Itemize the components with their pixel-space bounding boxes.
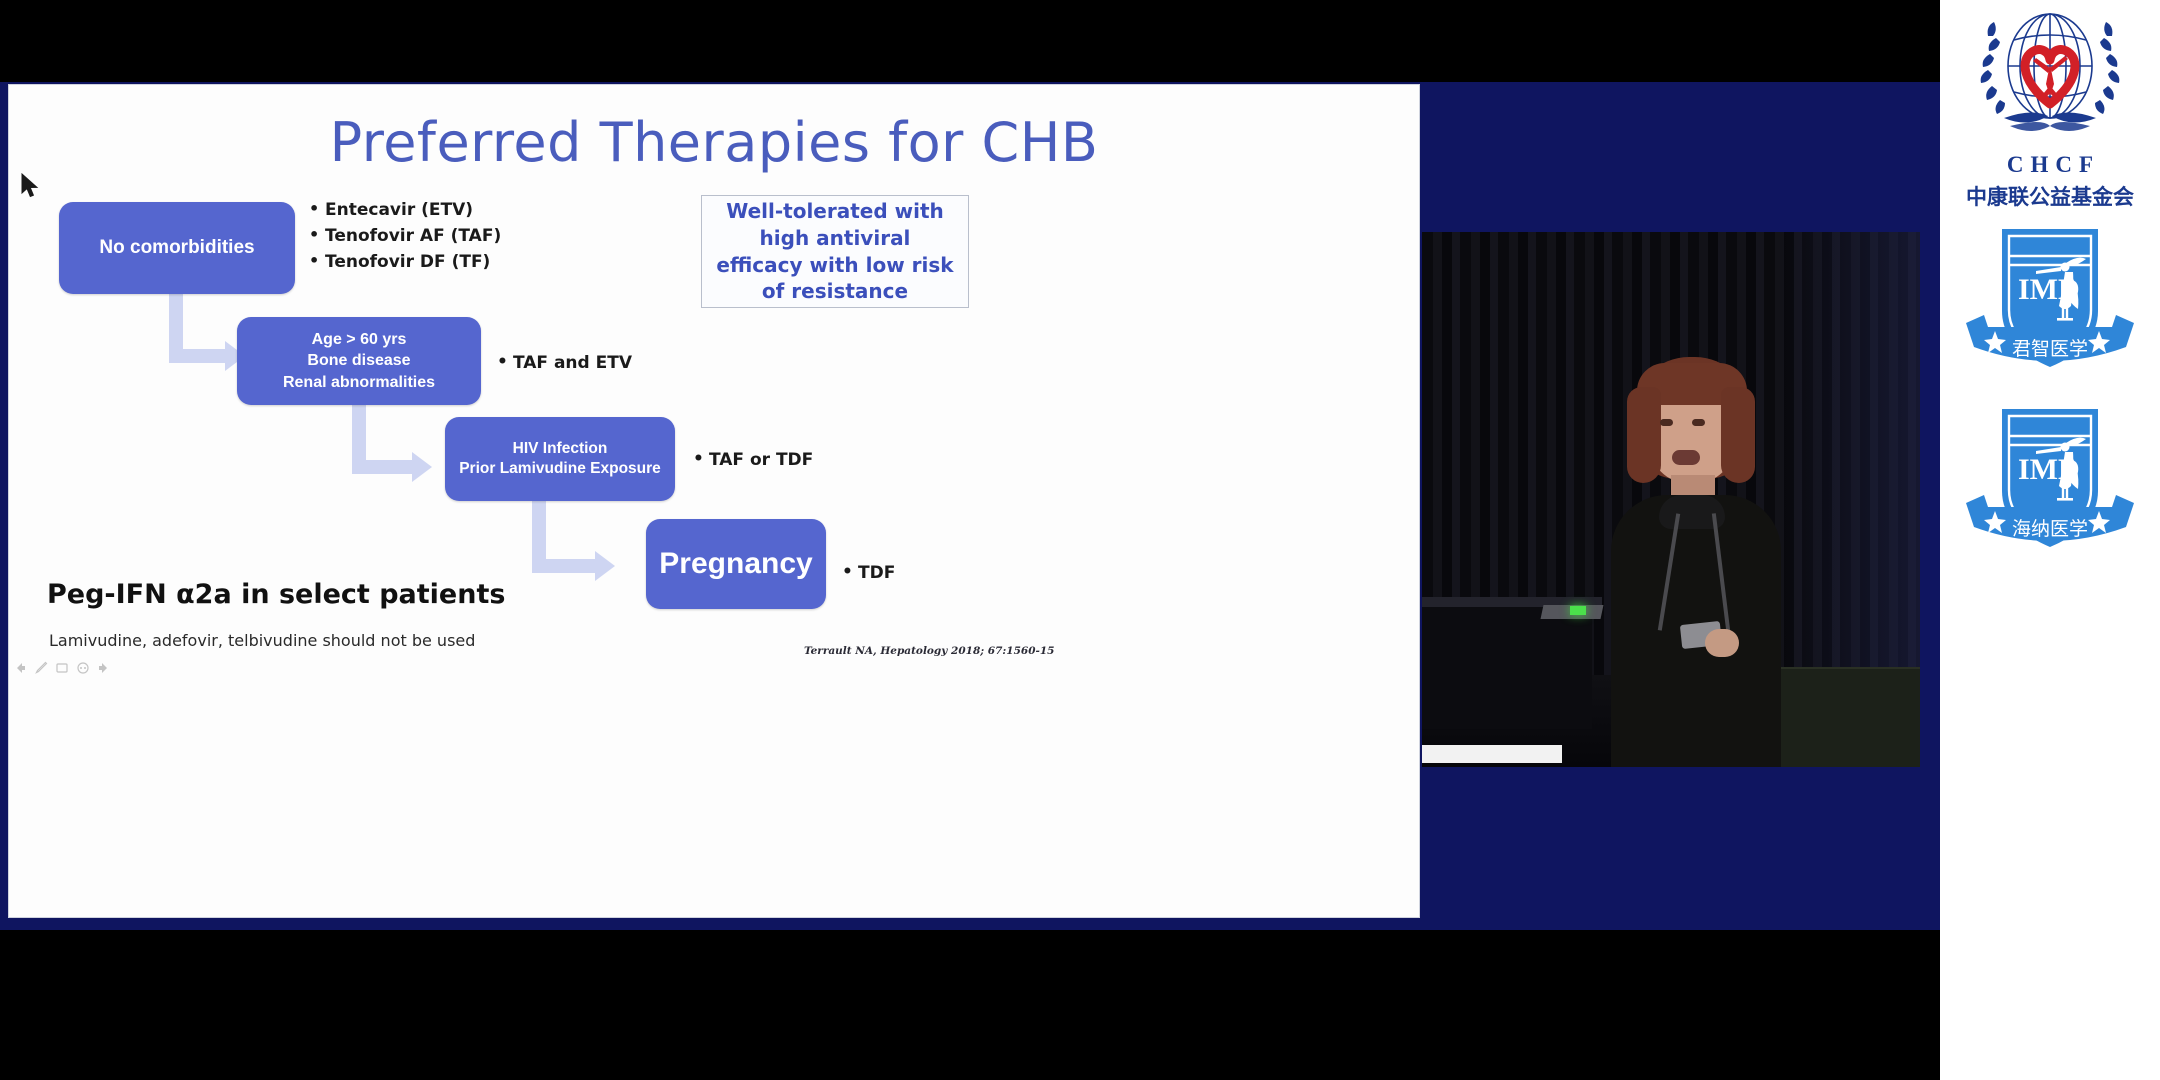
connector-nocomorbidities-to-age-horizontal — [169, 349, 227, 363]
bullet-list-no-comorbidities: Entecavir (ETV) Tenofovir AF (TAF) Tenof… — [309, 198, 501, 275]
connector-age-to-hiv-vertical — [352, 405, 366, 467]
speaker-person — [1597, 357, 1797, 767]
flowbox-pregnancy-label: Pregnancy — [659, 544, 812, 584]
slide-title: Preferred Therapies for CHB — [9, 111, 1419, 174]
flowbox-hiv-line2: Prior Lamivudine Exposure — [459, 460, 661, 477]
flowbox-age-line2: Bone disease — [307, 352, 410, 369]
imd-abbreviation-1: IMD — [2018, 273, 2080, 306]
connector-hiv-to-pregnancy-horizontal — [532, 559, 597, 573]
shield-crane-icon: IMD 海纳医学 — [1962, 395, 2138, 571]
screen: Preferred Therapies for CHB No comorbidi… — [0, 0, 2160, 1080]
connector-hiv-to-pregnancy-vertical — [532, 501, 546, 566]
imd-ribbon-text-2: 海纳医学 — [2012, 518, 2088, 540]
chcf-chinese-name: 中康联公益基金会 — [1966, 181, 2134, 211]
green-indicator-light — [1570, 606, 1586, 615]
flowbox-no-comorbidities: No comorbidities — [59, 202, 295, 294]
top-letterbox-band — [0, 0, 1940, 82]
callout-line-1: Well-tolerated with — [726, 199, 944, 223]
presenter-toolbar[interactable] — [13, 661, 111, 675]
speaker-video-feed[interactable] — [1422, 232, 1920, 767]
callout-well-tolerated: Well-tolerated with high antiviral effic… — [701, 195, 969, 308]
next-slide-arrow-icon[interactable] — [97, 661, 111, 675]
drugs-not-used-note: Lamivudine, adefovir, telbivudine should… — [49, 631, 475, 650]
callout-line-3: efficacy with low risk — [716, 253, 953, 277]
bullet-age-recommendation: TAF and ETV — [497, 353, 632, 373]
bottom-letterbox-band — [0, 930, 1940, 1080]
flowbox-hiv-line1: HIV Infection — [513, 440, 608, 457]
speaker-hair-left — [1627, 387, 1661, 483]
pen-tool-icon[interactable] — [34, 661, 48, 675]
bullet-item: Tenofovir DF (TF) — [309, 250, 501, 276]
bullet-item: Tenofovir AF (TAF) — [309, 224, 501, 250]
speaker-mouth — [1672, 450, 1700, 465]
slide-thumbnail-icon[interactable] — [55, 661, 69, 675]
connector-nocomorbidities-to-age-vertical — [169, 294, 183, 356]
bullet-item: Entecavir (ETV) — [309, 198, 501, 224]
flowbox-pregnancy: Pregnancy — [646, 519, 826, 609]
shield-crane-icon: IMD 君智医学 — [1962, 215, 2138, 391]
connector-arrowhead-3-icon — [595, 551, 615, 581]
presentation-area: Preferred Therapies for CHB No comorbidi… — [0, 0, 1940, 1080]
speaker-hand — [1705, 629, 1739, 657]
speaker-eye-left — [1660, 419, 1673, 426]
citation-reference: Terrault NA, Hepatology 2018; 67:1560-15 — [804, 645, 1054, 657]
logo-imd-haina: IMD 海纳医学 — [1950, 395, 2150, 571]
flowbox-age-line1: Age > 60 yrs — [312, 331, 407, 348]
logo-chcf: CHCF 中康联公益基金会 — [1950, 8, 2150, 211]
flowbox-no-comorbidities-label: No comorbidities — [99, 235, 254, 260]
lower-white-bar — [1422, 745, 1562, 763]
bullet-pregnancy-recommendation: TDF — [842, 563, 895, 583]
connector-age-to-hiv-horizontal — [352, 460, 414, 474]
bullet-hiv-recommendation: TAF or TDF — [693, 450, 813, 470]
previous-slide-arrow-icon[interactable] — [13, 661, 27, 675]
peg-ifn-note: Peg-IFN α2a in select patients — [47, 579, 505, 610]
logo-imd-junzhi: IMD 君智医学 — [1950, 215, 2150, 391]
speaker-eye-right — [1692, 419, 1705, 426]
callout-line-2: high antiviral — [760, 226, 911, 250]
imd-abbreviation-2: IMD — [2018, 453, 2080, 486]
speaker-hair-right — [1721, 387, 1755, 483]
sponsor-logo-rail: CHCF 中康联公益基金会 IMD — [1940, 0, 2160, 1080]
globe-heart-laurel-icon — [1970, 8, 2130, 150]
flowbox-hiv-lamivudine: HIV Infection Prior Lamivudine Exposure — [445, 417, 675, 501]
imd-ribbon-text-1: 君智医学 — [2012, 338, 2088, 360]
options-menu-icon[interactable] — [76, 661, 90, 675]
chcf-abbreviation: CHCF — [2000, 152, 2100, 178]
flowbox-age-bone-renal: Age > 60 yrs Bone disease Renal abnormal… — [237, 317, 481, 405]
connector-arrowhead-2-icon — [412, 452, 432, 482]
flowbox-age-line3: Renal abnormalities — [283, 374, 435, 391]
slide-canvas[interactable]: Preferred Therapies for CHB No comorbidi… — [8, 84, 1420, 918]
callout-line-4: of resistance — [762, 279, 908, 303]
